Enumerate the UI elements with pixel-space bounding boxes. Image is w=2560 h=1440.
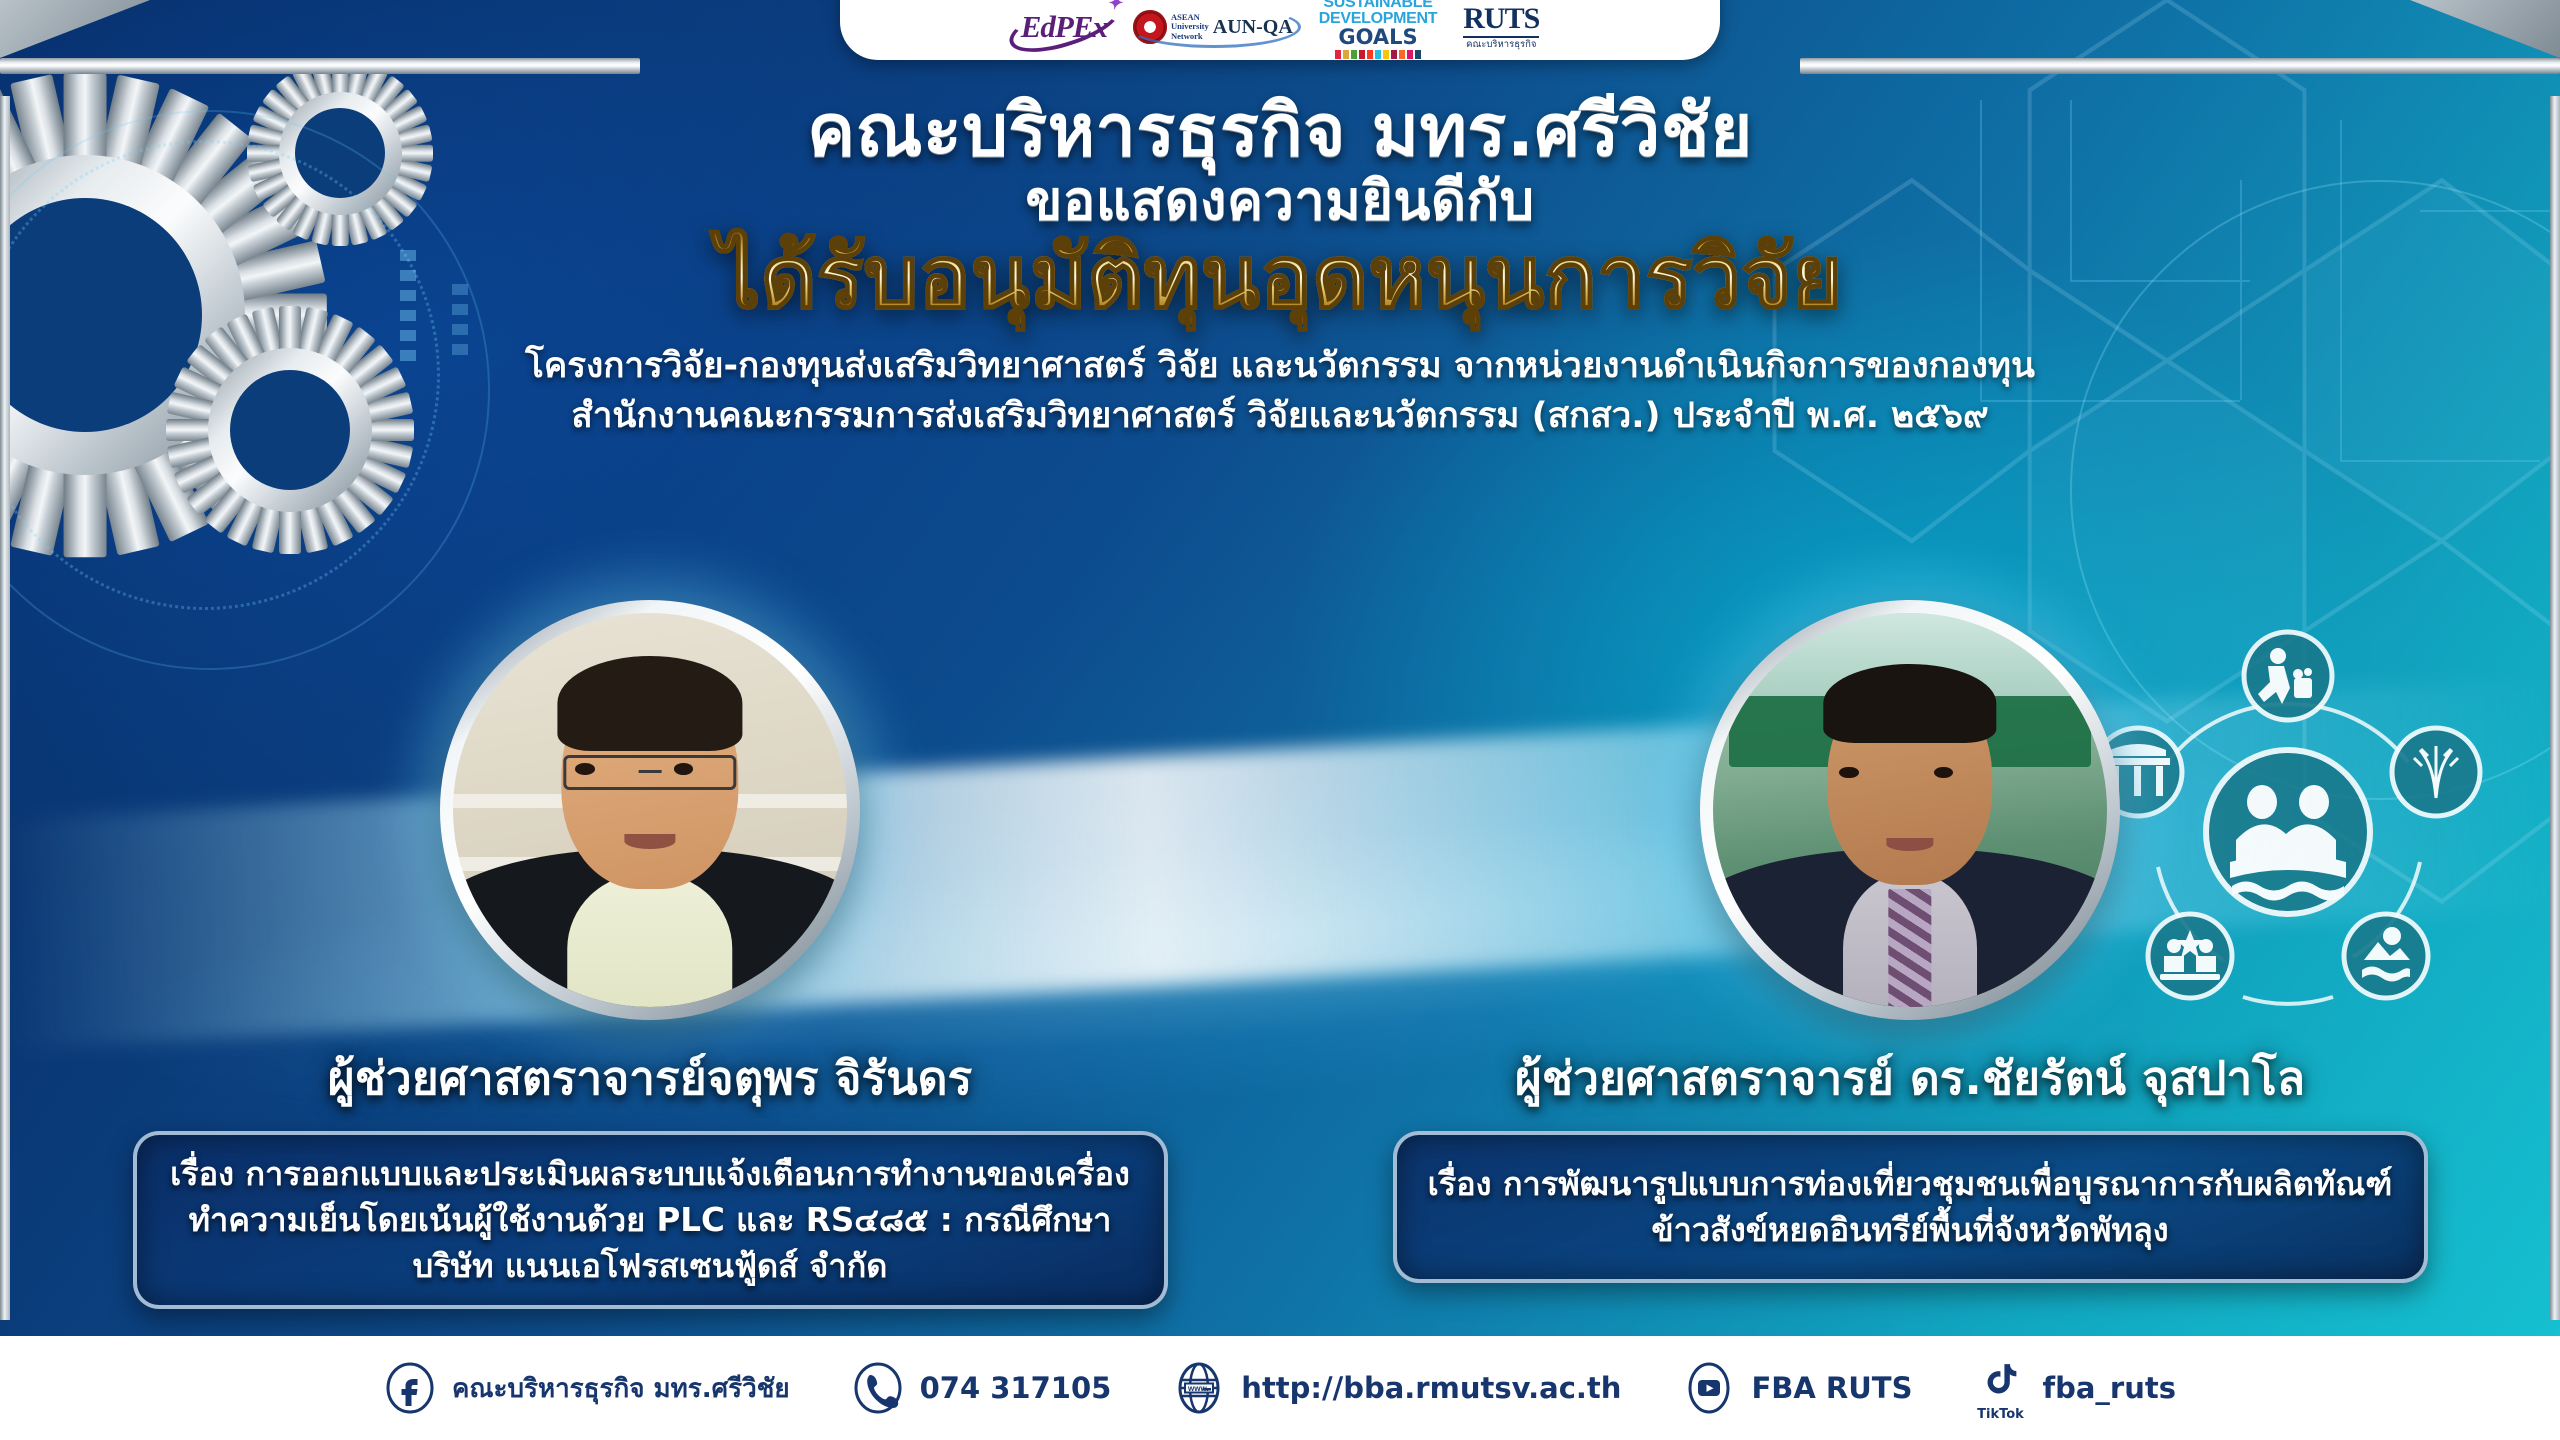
footer-item-phone[interactable]: 074 317105 bbox=[852, 1362, 1112, 1414]
research-topic-box-left: เรื่อง การออกแบบและประเมินผลระบบแจ้งเตือ… bbox=[133, 1131, 1168, 1309]
avatar bbox=[1700, 600, 2120, 1020]
person-name-right: ผู้ช่วยศาสตราจารย์ ดร.ชัยรัตน์ จุสปาโล bbox=[1320, 1042, 2500, 1115]
person-card-left: ผู้ช่วยศาสตราจารย์จตุพร จิรันดร เรื่อง ก… bbox=[60, 600, 1240, 1309]
footer-label-phone: 074 317105 bbox=[920, 1371, 1112, 1405]
ruts-logo-subtext: คณะบริหารธุรกิจ bbox=[1463, 36, 1539, 50]
research-topic-box-right: เรื่อง การพัฒนารูปแบบการท่องเที่ยวชุมชนเ… bbox=[1393, 1131, 2428, 1283]
headline-block: คณะบริหารธุรกิจ มทร.ศรีวิชัย ขอแสดงความย… bbox=[0, 92, 2560, 442]
sdg-color-bars bbox=[1319, 50, 1438, 59]
research-topic-left: เรื่อง การออกแบบและประเมินผลระบบแจ้งเตือ… bbox=[161, 1151, 1140, 1289]
sdg-line-3: GOALS bbox=[1319, 27, 1438, 48]
footer-label-facebook: คณะบริหารธุรกิจ มทร.ศรีวิชัย bbox=[452, 1368, 790, 1409]
person-name-left: ผู้ช่วยศาสตราจารย์จตุพร จิรันดร bbox=[60, 1042, 1240, 1115]
avatar bbox=[440, 600, 860, 1020]
contact-footer: คณะบริหารธุรกิจ มทร.ศรีวิชัย 074 317105 bbox=[0, 1336, 2560, 1440]
footer-item-facebook[interactable]: คณะบริหารธุรกิจ มทร.ศรีวิชัย bbox=[384, 1362, 790, 1414]
aun-qa-logo: ASEAN University Network AUN-QA bbox=[1133, 0, 1293, 54]
footer-item-youtube[interactable]: FBA RUTS bbox=[1683, 1362, 1912, 1414]
tiktok-icon[interactable] bbox=[1974, 1354, 2026, 1406]
headline-line-2: ขอแสดงความยินดีกับ bbox=[0, 172, 2560, 229]
tiktok-caption: TikTok bbox=[1977, 1407, 2024, 1422]
headline-gold-title: ได้รับอนุมัติทุนอุดหนุนการวิจัย bbox=[0, 232, 2560, 325]
portrait-photo-left bbox=[453, 613, 847, 1007]
footer-item-tiktok[interactable]: TikTok fba_ruts bbox=[1974, 1354, 2176, 1422]
footer-label-tiktok: fba_ruts bbox=[2042, 1371, 2176, 1405]
edpex-logo: EdPEx ✦ bbox=[1021, 0, 1107, 54]
footer-label-youtube: FBA RUTS bbox=[1751, 1371, 1912, 1405]
facebook-icon[interactable] bbox=[384, 1362, 436, 1414]
research-topic-right: เรื่อง การพัฒนารูปแบบการท่องเที่ยวชุมชนเ… bbox=[1421, 1161, 2400, 1253]
accreditation-logo-bar: EdPEx ✦ ASEAN University Network AUN-QA … bbox=[840, 0, 1720, 60]
ruts-logo: RUTS คณะบริหารธุรกิจ bbox=[1463, 0, 1539, 54]
headline-line-1: คณะบริหารธุรกิจ มทร.ศรีวิชัย bbox=[0, 92, 2560, 168]
youtube-icon[interactable] bbox=[1683, 1362, 1735, 1414]
footer-label-website: http://bba.rmutsv.ac.th bbox=[1241, 1371, 1621, 1405]
website-globe-icon[interactable]: www. bbox=[1173, 1362, 1225, 1414]
star-icon: ✦ bbox=[1107, 0, 1121, 14]
phone-icon[interactable] bbox=[852, 1362, 904, 1414]
poster-canvas: EdPEx ✦ ASEAN University Network AUN-QA … bbox=[0, 0, 2560, 1440]
portrait-photo-right bbox=[1713, 613, 2107, 1007]
person-card-right: ผู้ช่วยศาสตราจารย์ ดร.ชัยรัตน์ จุสปาโล เ… bbox=[1320, 600, 2500, 1283]
subtitle-line-2: สำนักงานคณะกรรมการส่งเสริมวิทยาศาสตร์ วิ… bbox=[0, 392, 2560, 442]
footer-item-website[interactable]: www. http://bba.rmutsv.ac.th bbox=[1173, 1362, 1621, 1414]
ruts-logo-text: RUTS bbox=[1463, 2, 1539, 35]
frame-corner-top-left bbox=[0, 0, 640, 96]
subtitle-line-1: โครงการวิจัย-กองทุนส่งเสริมวิทยาศาสตร์ ว… bbox=[0, 342, 2560, 392]
frame-corner-top-right bbox=[1800, 0, 2560, 96]
sdg-logo: SUSTAINABLE DEVELOPMENT GOALS bbox=[1319, 0, 1438, 54]
